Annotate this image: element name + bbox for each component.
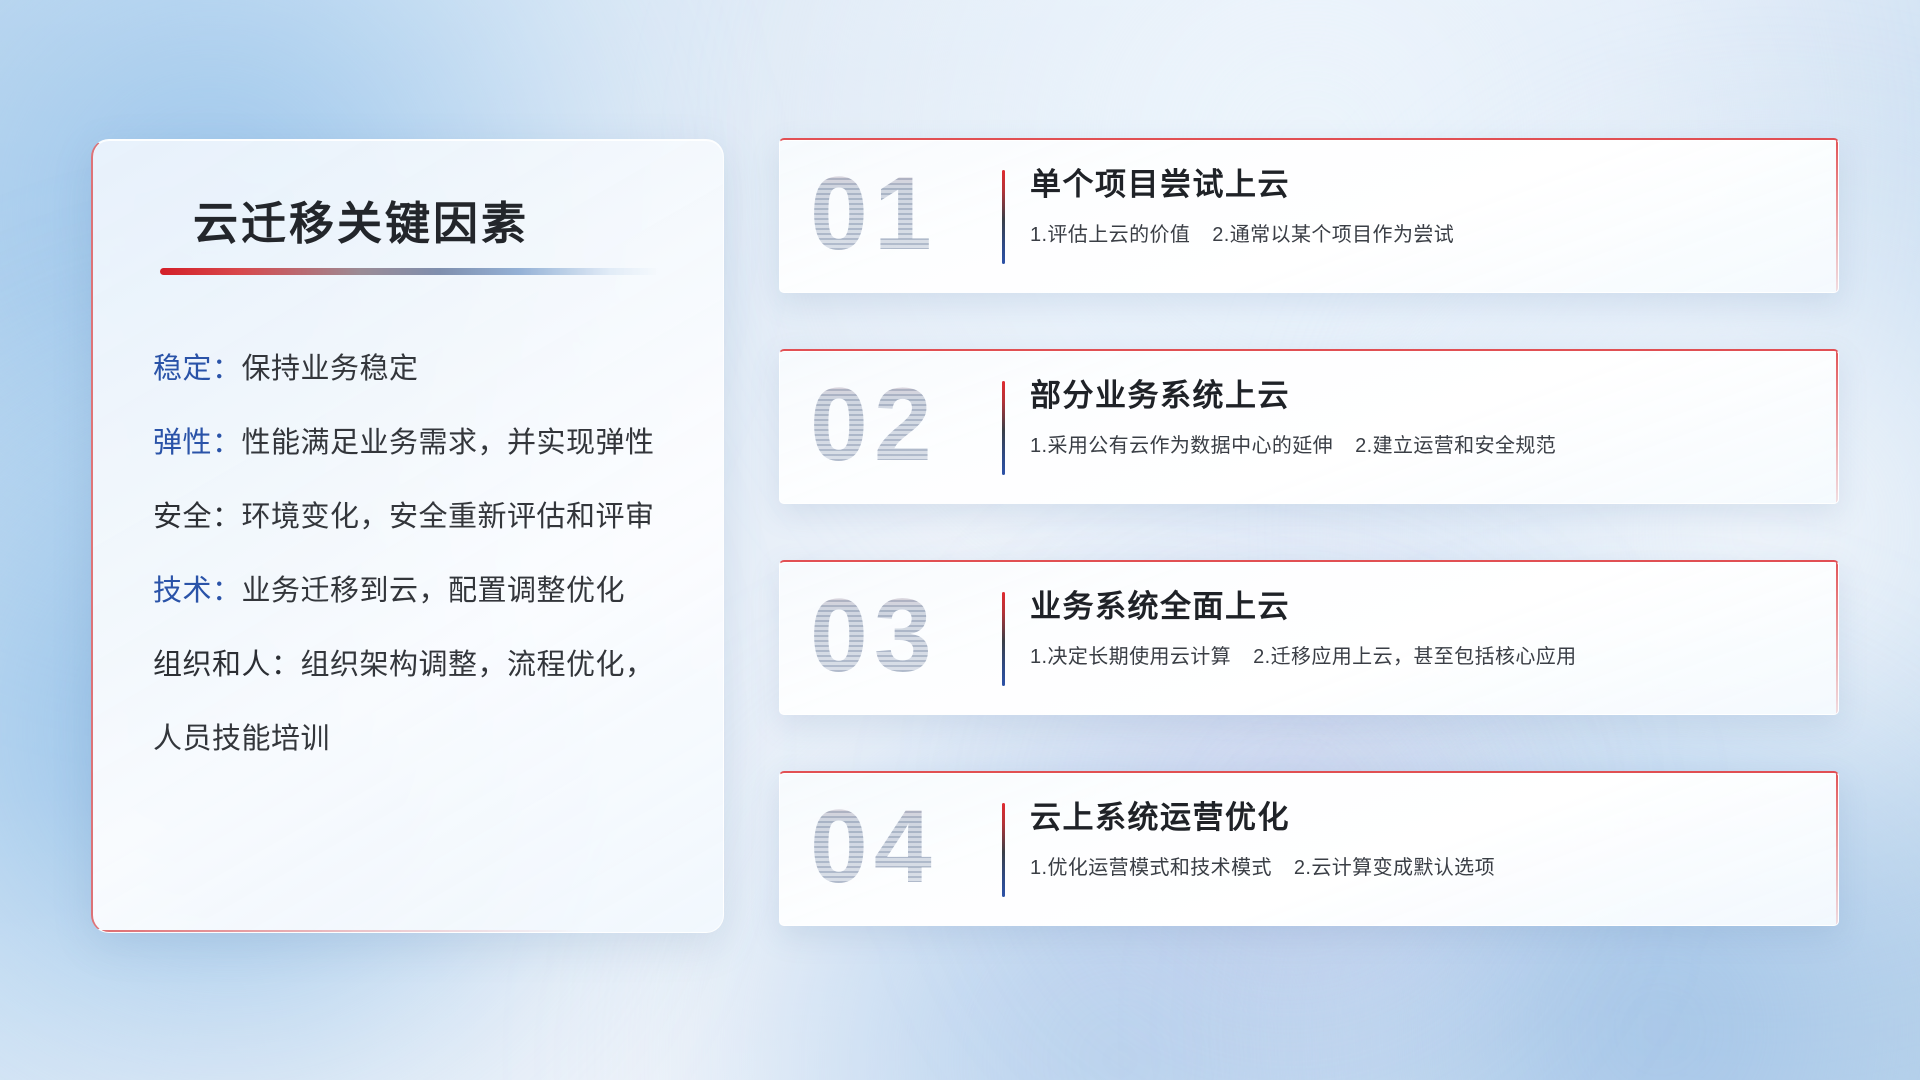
stage-points: 1.评估上云的价值2.通常以某个项目作为尝试 bbox=[1030, 220, 1812, 250]
factor-value: 保持业务稳定 bbox=[242, 353, 419, 385]
stage-number: 02 bbox=[810, 359, 1010, 491]
stage-point: 1.优化运营模式和技术模式 bbox=[1030, 857, 1272, 879]
factor-row: 人员技能培训 bbox=[153, 702, 693, 776]
stage-point: 1.决定长期使用云计算 bbox=[1030, 646, 1231, 668]
stage-divider-bar bbox=[1002, 170, 1005, 264]
factor-value: 性能满足业务需求，并实现弹性 bbox=[242, 427, 655, 459]
page-title: 云迁移关键因素 bbox=[193, 187, 529, 252]
factor-label: 组织和人： bbox=[153, 649, 301, 681]
factor-list: 稳定：保持业务稳定弹性：性能满足业务需求，并实现弹性安全：环境变化，安全重新评估… bbox=[153, 332, 693, 776]
stage-divider-bar bbox=[1002, 381, 1005, 475]
stage-points: 1.采用公有云作为数据中心的延伸2.建立运营和安全规范 bbox=[1030, 431, 1812, 461]
factor-value: 环境变化，安全重新评估和评审 bbox=[242, 501, 655, 533]
factor-row: 稳定：保持业务稳定 bbox=[153, 332, 693, 406]
factor-value: 人员技能培训 bbox=[153, 723, 330, 755]
stage-points: 1.决定长期使用云计算2.迁移应用上云，甚至包括核心应用 bbox=[1030, 642, 1812, 672]
title-underline-rule bbox=[160, 268, 660, 275]
factor-row: 技术：业务迁移到云，配置调整优化 bbox=[153, 554, 693, 628]
stage-card-body: 单个项目尝试上云1.评估上云的价值2.通常以某个项目作为尝试 bbox=[1030, 162, 1812, 250]
stage-card[interactable]: 01单个项目尝试上云1.评估上云的价值2.通常以某个项目作为尝试 bbox=[779, 138, 1839, 293]
factor-label: 安全： bbox=[153, 501, 242, 533]
stage-point: 2.云计算变成默认选项 bbox=[1294, 857, 1495, 879]
factor-value: 业务迁移到云，配置调整优化 bbox=[242, 575, 626, 607]
factor-label: 稳定： bbox=[153, 353, 242, 385]
stage-number: 04 bbox=[810, 781, 1010, 913]
stage-divider-bar bbox=[1002, 592, 1005, 686]
stage-card-body: 云上系统运营优化1.优化运营模式和技术模式2.云计算变成默认选项 bbox=[1030, 795, 1812, 883]
factor-label: 技术： bbox=[153, 575, 242, 607]
stage-title: 业务系统全面上云 bbox=[1030, 584, 1812, 630]
stage-title: 部分业务系统上云 bbox=[1030, 373, 1812, 419]
stage-card[interactable]: 04云上系统运营优化1.优化运营模式和技术模式2.云计算变成默认选项 bbox=[779, 771, 1839, 926]
stage-divider-bar bbox=[1002, 803, 1005, 897]
stage-card-list: 01单个项目尝试上云1.评估上云的价值2.通常以某个项目作为尝试02部分业务系统… bbox=[779, 138, 1839, 982]
stage-title: 云上系统运营优化 bbox=[1030, 795, 1812, 841]
slide-stage: 云迁移关键因素 稳定：保持业务稳定弹性：性能满足业务需求，并实现弹性安全：环境变… bbox=[0, 0, 1920, 1080]
stage-points: 1.优化运营模式和技术模式2.云计算变成默认选项 bbox=[1030, 853, 1812, 883]
stage-card[interactable]: 02部分业务系统上云1.采用公有云作为数据中心的延伸2.建立运营和安全规范 bbox=[779, 349, 1839, 504]
stage-number: 03 bbox=[810, 570, 1010, 702]
stage-point: 2.迁移应用上云，甚至包括核心应用 bbox=[1253, 646, 1576, 668]
factor-value: 组织架构调整，流程优化， bbox=[301, 649, 655, 681]
factor-row: 组织和人：组织架构调整，流程优化， bbox=[153, 628, 693, 702]
stage-card[interactable]: 03业务系统全面上云1.决定长期使用云计算2.迁移应用上云，甚至包括核心应用 bbox=[779, 560, 1839, 715]
stage-point: 2.通常以某个项目作为尝试 bbox=[1212, 224, 1454, 246]
stage-point: 1.评估上云的价值 bbox=[1030, 224, 1190, 246]
factor-row: 弹性：性能满足业务需求，并实现弹性 bbox=[153, 406, 693, 480]
stage-point: 1.采用公有云作为数据中心的延伸 bbox=[1030, 435, 1333, 457]
factor-row: 安全：环境变化，安全重新评估和评审 bbox=[153, 480, 693, 554]
factor-label: 弹性： bbox=[153, 427, 242, 459]
stage-point: 2.建立运营和安全规范 bbox=[1355, 435, 1556, 457]
stage-number: 01 bbox=[810, 148, 1010, 280]
key-factors-panel: 云迁移关键因素 稳定：保持业务稳定弹性：性能满足业务需求，并实现弹性安全：环境变… bbox=[91, 139, 724, 933]
stage-title: 单个项目尝试上云 bbox=[1030, 162, 1812, 208]
stage-card-body: 部分业务系统上云1.采用公有云作为数据中心的延伸2.建立运营和安全规范 bbox=[1030, 373, 1812, 461]
stage-card-body: 业务系统全面上云1.决定长期使用云计算2.迁移应用上云，甚至包括核心应用 bbox=[1030, 584, 1812, 672]
